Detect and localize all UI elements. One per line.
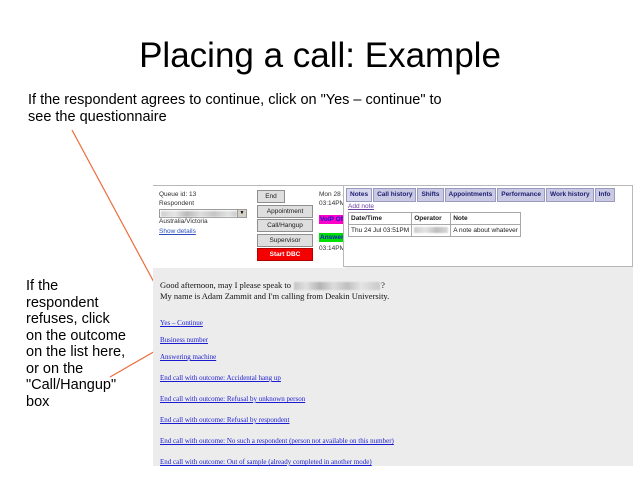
tab-notes[interactable]: Notes (346, 188, 372, 202)
page-title: Placing a call: Example (0, 36, 640, 76)
notes-tab-bar: Notes Call history Shifts Appointments P… (346, 188, 615, 202)
respondent-name-redacted (294, 282, 380, 290)
notes-table: Date/Time Operator Note Thu 24 Jul 03:51… (348, 212, 521, 237)
voip-status-badge: VoIP Off (319, 215, 346, 224)
respondent-block: Queue id: 13 Respondent ▼ Australia/Vict… (159, 191, 255, 236)
link-outcome-accidental-hangup[interactable]: End call with outcome: Accidental hang u… (160, 373, 281, 383)
show-details-link[interactable]: Show details (159, 227, 255, 236)
arrow-to-yes-continue (72, 130, 163, 299)
queue-id-label: Queue id: 13 (159, 191, 255, 200)
script-intro-line: My name is Adam Zammit and I'm calling f… (160, 291, 389, 302)
call-script-body: Good afternoon, may I please speak to ? … (153, 273, 633, 466)
column-header-note: Note (451, 213, 521, 225)
respondent-select[interactable]: ▼ (159, 209, 247, 218)
table-row: Thu 24 Jul 03:51PM A note about whatever (349, 225, 521, 237)
operator-redacted (414, 227, 448, 233)
annotation-left-text: If the respondent refuses, click on the … (26, 278, 126, 410)
appointment-button[interactable]: Appointment (257, 205, 313, 218)
supervisor-button[interactable]: Supervisor (257, 234, 313, 247)
column-header-operator: Operator (412, 213, 451, 225)
link-answering-machine[interactable]: Answering machine (160, 352, 216, 362)
timezone-label: Australia/Victoria (159, 218, 255, 227)
call-action-buttons: End Appointment Call/Hangup Supervisor S… (257, 190, 313, 263)
cell-datetime: Thu 24 Jul 03:51PM (349, 225, 412, 237)
link-outcome-refusal-unknown[interactable]: End call with outcome: Refusal by unknow… (160, 394, 305, 404)
respondent-value-redacted (161, 211, 237, 217)
chevron-down-icon[interactable]: ▼ (237, 210, 246, 217)
column-header-datetime: Date/Time (349, 213, 412, 225)
link-yes-continue[interactable]: Yes – Continue (160, 318, 203, 328)
app-top-strip: Queue id: 13 Respondent ▼ Australia/Vict… (153, 185, 633, 267)
script-greeting-suffix: ? (381, 280, 385, 290)
call-control-panel: Queue id: 13 Respondent ▼ Australia/Vict… (153, 185, 345, 268)
cell-operator (412, 225, 451, 237)
annotation-top-text: If the respondent agrees to continue, cl… (28, 92, 458, 126)
call-hangup-button[interactable]: Call/Hangup (257, 219, 313, 232)
tab-appointments[interactable]: Appointments (445, 188, 497, 202)
tab-work-history[interactable]: Work history (546, 188, 594, 202)
cell-note: A note about whatever (451, 225, 521, 237)
tab-info[interactable]: Info (595, 188, 615, 202)
end-button[interactable]: End (257, 190, 285, 203)
add-note-link[interactable]: Add note (348, 202, 374, 211)
link-outcome-refusal-respondent[interactable]: End call with outcome: Refusal by respon… (160, 415, 289, 425)
link-outcome-no-such-respondent[interactable]: End call with outcome: No such a respond… (160, 436, 394, 446)
notes-panel: Notes Call history Shifts Appointments P… (343, 185, 633, 267)
tab-performance[interactable]: Performance (497, 188, 545, 202)
link-outcome-out-of-sample[interactable]: End call with outcome: Out of sample (al… (160, 457, 372, 467)
script-greeting-prefix: Good afternoon, may I please speak to (160, 280, 293, 290)
script-greeting-line: Good afternoon, may I please speak to ? (160, 280, 385, 291)
start-dbc-button[interactable]: Start DBC (257, 248, 313, 261)
tab-shifts[interactable]: Shifts (417, 188, 443, 202)
respondent-label: Respondent (159, 200, 255, 209)
link-business-number[interactable]: Business number (160, 335, 208, 345)
table-header-row: Date/Time Operator Note (349, 213, 521, 225)
tab-call-history[interactable]: Call history (373, 188, 416, 202)
embedded-app-screenshot: Queue id: 13 Respondent ▼ Australia/Vict… (153, 185, 633, 466)
